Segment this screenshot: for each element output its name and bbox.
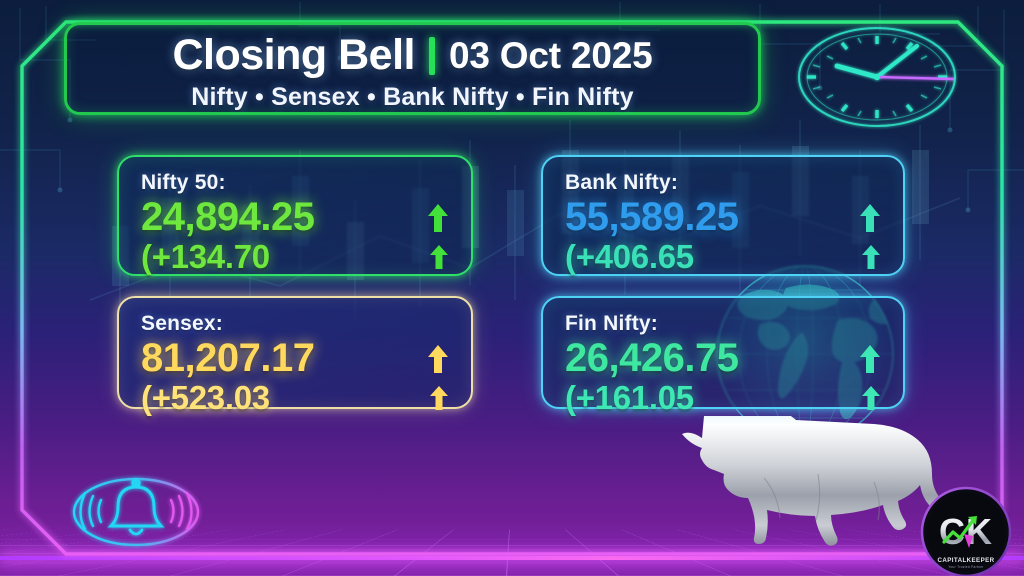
page-title: Closing Bell (173, 31, 415, 80)
card-change: (+523.03 (141, 380, 270, 416)
card-change: (+161.05 (565, 380, 694, 416)
arrow-up-icon (861, 385, 881, 411)
notification-bell-icon[interactable] (66, 470, 206, 554)
header-banner: Closing Bell 03 Oct 2025 Nifty • Sensex … (64, 22, 761, 115)
index-card-banknifty[interactable]: Bank Nifty: 55,589.25 (+406.65 (541, 155, 905, 276)
arrow-up-icon (861, 244, 881, 270)
card-value: 55,589.25 (565, 196, 738, 239)
card-label: Nifty 50: (141, 171, 449, 195)
index-card-nifty50[interactable]: Nifty 50: 24,894.25 (+134.70 (117, 155, 473, 276)
card-label: Fin Nifty: (565, 312, 881, 336)
arrow-up-icon (859, 344, 881, 374)
card-change-row: (+161.05 (565, 380, 881, 416)
arrow-up-icon (427, 344, 449, 374)
header-subtitle: Nifty • Sensex • Bank Nifty • Fin Nifty (67, 83, 758, 112)
index-card-sensex[interactable]: Sensex: 81,207.17 (+523.03 (117, 296, 473, 409)
arrow-up-icon (859, 203, 881, 233)
arrow-up-icon (429, 385, 449, 411)
card-value-row: 81,207.17 (141, 337, 449, 380)
card-value: 26,426.75 (565, 337, 738, 380)
card-label: Bank Nifty: (565, 171, 881, 195)
card-change-row: (+406.65 (565, 239, 881, 275)
index-card-finnifty[interactable]: Fin Nifty: 26,426.75 (+161.05 (541, 296, 905, 409)
card-change-row: (+523.03 (141, 380, 449, 416)
capitalkeeper-logo[interactable]: CK CAPITALKEEPER Your Trusted Partner (920, 486, 1012, 576)
arrow-up-icon (427, 203, 449, 233)
bull-silhouette-icon (668, 416, 958, 561)
card-change: (+134.70 (141, 239, 270, 275)
card-value-row: 26,426.75 (565, 337, 881, 380)
card-label: Sensex: (141, 312, 449, 336)
title-row: Closing Bell 03 Oct 2025 (67, 31, 758, 80)
logo-brand-text: CAPITALKEEPER (938, 557, 995, 564)
card-value-row: 24,894.25 (141, 196, 449, 239)
arrow-up-icon (429, 244, 449, 270)
logo-tagline-text: Your Trusted Partner (948, 565, 984, 569)
title-separator (429, 37, 435, 75)
report-date: 03 Oct 2025 (449, 35, 653, 77)
card-value: 24,894.25 (141, 196, 314, 239)
analog-clock-icon (793, 24, 961, 130)
closing-bell-infographic: Closing Bell 03 Oct 2025 Nifty • Sensex … (0, 0, 1024, 576)
card-value-row: 55,589.25 (565, 196, 881, 239)
card-value: 81,207.17 (141, 337, 314, 380)
card-change: (+406.65 (565, 239, 694, 275)
card-change-row: (+134.70 (141, 239, 449, 275)
